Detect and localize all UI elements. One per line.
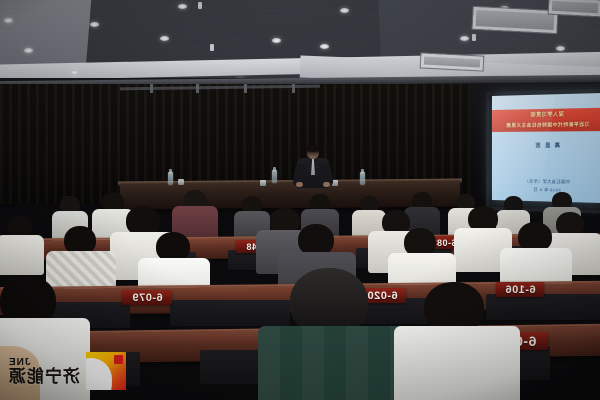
logo-crescent [86,358,112,390]
downlight-icon [24,48,33,53]
curtain-hook [244,84,247,93]
downlight-icon [178,4,187,9]
downlight-icon [460,36,469,41]
speaker-hand-left [296,182,303,187]
downlight-icon [160,36,169,41]
sprinkler-icon [210,44,214,51]
ac-vent [420,52,485,71]
seat-placard-label: 6-106 [505,284,536,296]
downlight-icon [272,38,281,43]
audience-torso [394,326,520,400]
audience-torso [0,235,44,275]
downlight-icon [556,46,565,51]
seat-placard-label: 6-020 [367,290,398,302]
downlight-icon [90,22,99,27]
curtain-hook [292,84,295,93]
logo-red-square [114,355,123,364]
seat-placard-label: 6-079 [132,292,163,304]
watermark-chinese: 济宁能源 [8,368,80,386]
watermark: JNE 济宁能源 [8,352,126,390]
seat-placard: 6-106 [496,282,544,297]
downlight-icon [320,44,329,49]
water-bottle [360,172,365,185]
seat-placard: 6-079 [122,290,172,305]
conference-hall-photo: 深入学习贯彻 习近平新时代中国特色社会主义思想 高 显 志 中国石油大学（华东）… [0,0,600,400]
downlight-icon [4,18,13,23]
seat-back [170,300,290,326]
company-logo-icon [86,352,126,390]
seat-back [486,294,600,320]
water-bottle [272,170,277,183]
sprinkler-icon [198,2,202,9]
projection-screen: 深入学习贯彻 习近平新时代中国特色社会主义思想 高 显 志 中国石油大学（华东）… [492,93,600,203]
speaker-presenter [296,146,330,188]
ac-vent [471,6,558,34]
downlight-icon [70,70,79,75]
curtain-hook [150,84,153,93]
sprinkler-icon [472,34,476,41]
speaker-hand-right [323,182,330,187]
tea-cup [178,179,184,185]
tea-cup [260,180,266,186]
ac-vent [548,0,600,17]
curtain-hook [196,84,199,93]
water-bottle [168,172,173,185]
downlight-icon [340,8,349,13]
speaker-hair [306,145,320,152]
watermark-text: JNE 济宁能源 [8,357,80,386]
